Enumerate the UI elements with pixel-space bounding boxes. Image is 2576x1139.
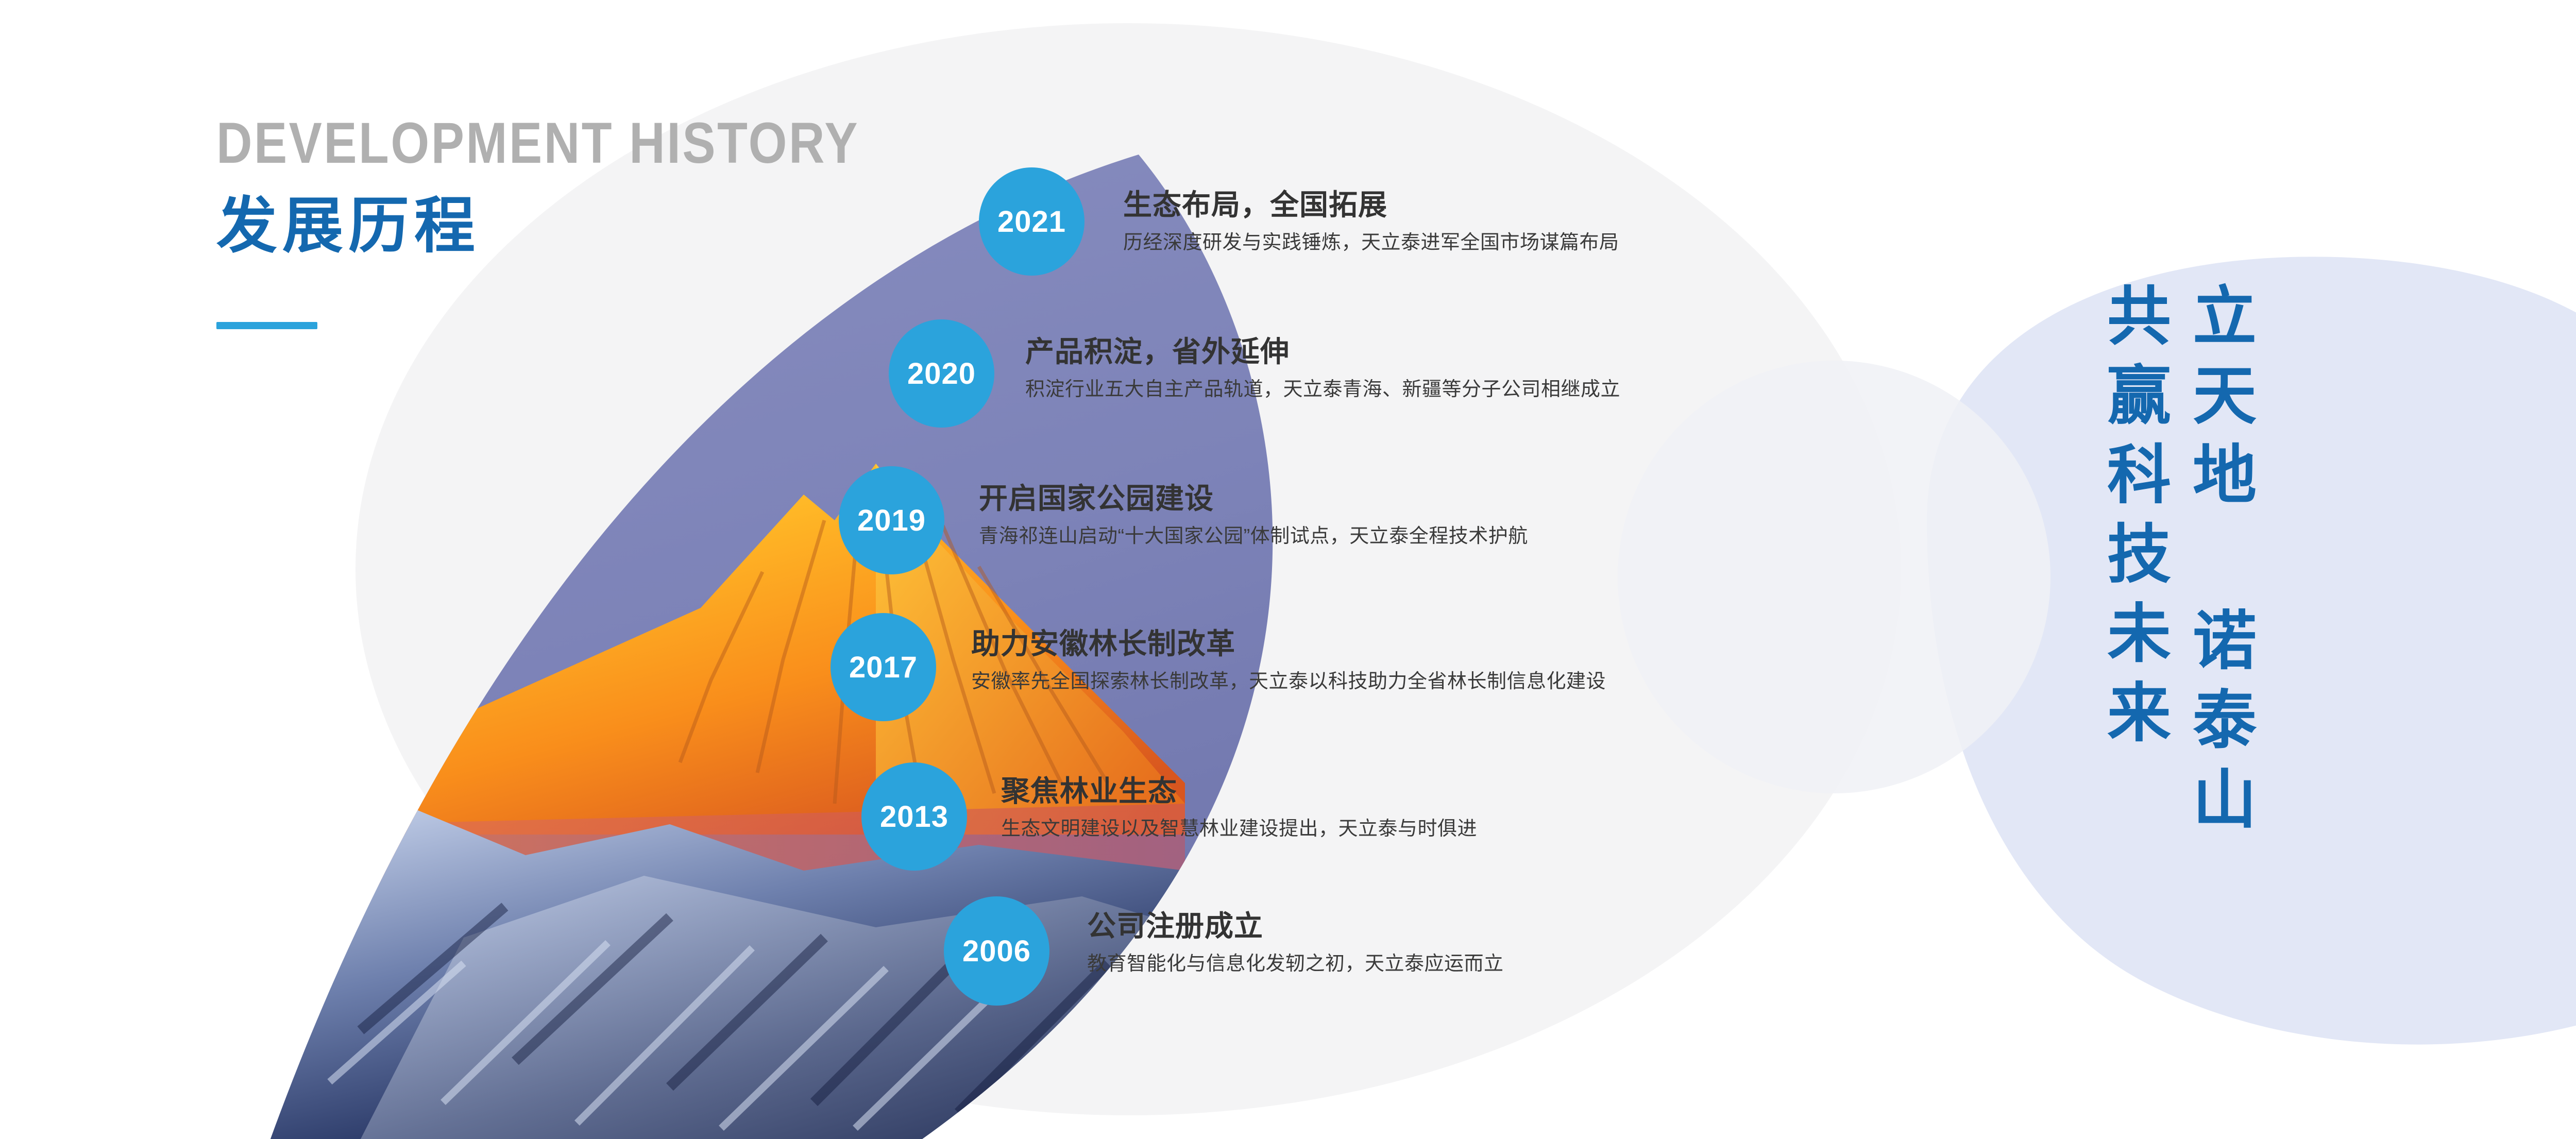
year-badge-2021[interactable]: 2021: [979, 167, 1084, 276]
year-label: 2006: [962, 934, 1031, 968]
timeline-text-2013: 聚焦林业生态 生态文明建设以及智慧林业建设提出，天立泰与时俱进: [1001, 777, 1477, 839]
timeline-desc: 安徽率先全国探索林长制改革，天立泰以科技助力全省林长制信息化建设: [971, 672, 1606, 691]
timeline-title: 产品积淀，省外延伸: [1025, 337, 1620, 366]
heading-underline: [216, 322, 317, 329]
year-badge-2013[interactable]: 2013: [861, 762, 967, 871]
page-heading: DEVELOPMENT HISTORY 发展历程: [216, 114, 964, 257]
timeline-text-2006: 公司注册成立 教育智能化与信息化发轫之初，天立泰应运而立: [1087, 912, 1504, 974]
timeline-desc: 教育智能化与信息化发轫之初，天立泰应运而立: [1087, 954, 1504, 974]
year-badge-2019[interactable]: 2019: [839, 466, 944, 574]
year-label: 2021: [997, 205, 1066, 239]
slogan-column-right: 立天地 诺泰山: [2187, 282, 2250, 845]
year-label: 2017: [849, 650, 918, 685]
timeline-title: 公司注册成立: [1087, 912, 1504, 941]
slide-canvas: DEVELOPMENT HISTORY 发展历程 2021 生态布局，全国拓展 …: [0, 0, 2576, 1139]
timeline-title: 生态布局，全国拓展: [1123, 191, 1619, 219]
timeline-title: 开启国家公园建设: [979, 484, 1528, 513]
timeline-text-2021: 生态布局，全国拓展 历经深度研发与实践锤炼，天立泰进军全国市场谋篇布局: [1123, 191, 1619, 252]
heading-english: DEVELOPMENT HISTORY: [216, 114, 859, 172]
timeline-desc: 青海祁连山启动“十大国家公园”体制试点，天立泰全程技术护航: [979, 526, 1528, 546]
year-label: 2019: [857, 503, 926, 538]
timeline-desc: 生态文明建设以及智慧林业建设提出，天立泰与时俱进: [1001, 819, 1477, 839]
timeline-text-2019: 开启国家公园建设 青海祁连山启动“十大国家公园”体制试点，天立泰全程技术护航: [979, 484, 1528, 546]
year-badge-2020[interactable]: 2020: [889, 319, 994, 428]
timeline-text-2017: 助力安徽林长制改革 安徽率先全国探索林长制改革，天立泰以科技助力全省林长制信息化…: [971, 630, 1606, 691]
year-badge-2017[interactable]: 2017: [831, 613, 936, 721]
timeline-title: 聚焦林业生态: [1001, 777, 1477, 806]
year-label: 2013: [880, 800, 948, 834]
year-label: 2020: [907, 356, 976, 391]
timeline-desc: 积淀行业五大自主产品轨道，天立泰青海、新疆等分子公司相继成立: [1025, 380, 1620, 399]
timeline-desc: 历经深度研发与实践锤炼，天立泰进军全国市场谋篇布局: [1123, 233, 1619, 252]
year-badge-2006[interactable]: 2006: [944, 896, 1049, 1006]
slogan-block: 共赢科技未来 立天地 诺泰山: [2101, 282, 2576, 845]
timeline-title: 助力安徽林长制改革: [971, 630, 1606, 658]
page-title: 发展历程: [216, 196, 964, 257]
right-small-circle-shape: [1618, 361, 2050, 793]
slogan-column-left: 共赢科技未来: [2101, 282, 2165, 845]
timeline-text-2020: 产品积淀，省外延伸 积淀行业五大自主产品轨道，天立泰青海、新疆等分子公司相继成立: [1025, 337, 1620, 399]
